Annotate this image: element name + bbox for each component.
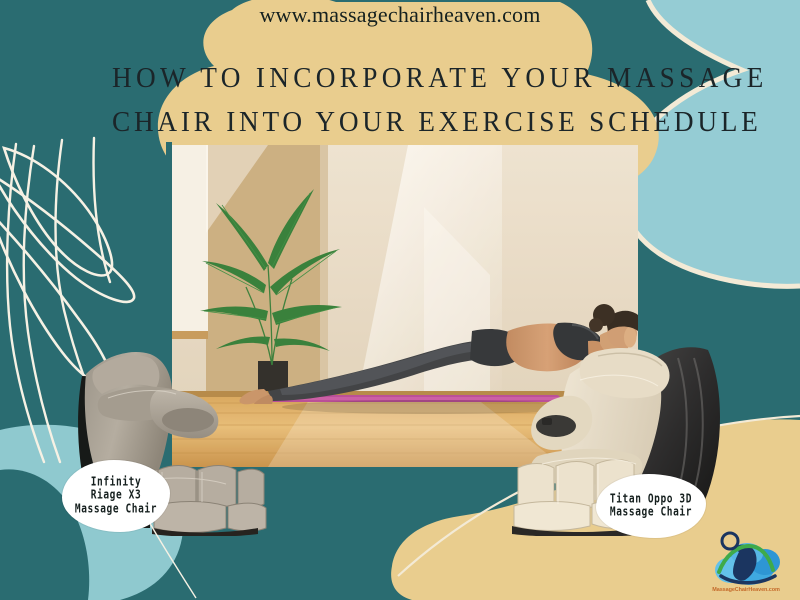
brand-logo[interactable]: MassageChairHeaven.com [703,528,789,594]
callout-titan-oppo-3d: Titan Oppo 3D Massage Chair [596,474,706,538]
logo-wordmark: MassageChairHeaven.com [703,587,789,593]
callout-left-line-3: Massage Chair [75,501,157,518]
callout-right-line-2: Massage Chair [610,504,692,521]
site-url: www.massagechairheaven.com [0,2,800,28]
poster-canvas: www.massagechairheaven.com HOW TO INCORP… [0,0,800,600]
massage-chair-heaven-logo-icon [703,528,789,594]
title-line-1: HOW TO INCORPORATE YOUR MASSAGE [112,56,657,100]
title-line-2: CHAIR INTO YOUR EXERCISE SCHEDULE [112,100,657,144]
callout-infinity-riage-x3: Infinity Riage X3 Massage Chair [62,460,170,532]
page-title: HOW TO INCORPORATE YOUR MASSAGE CHAIR IN… [112,56,692,144]
